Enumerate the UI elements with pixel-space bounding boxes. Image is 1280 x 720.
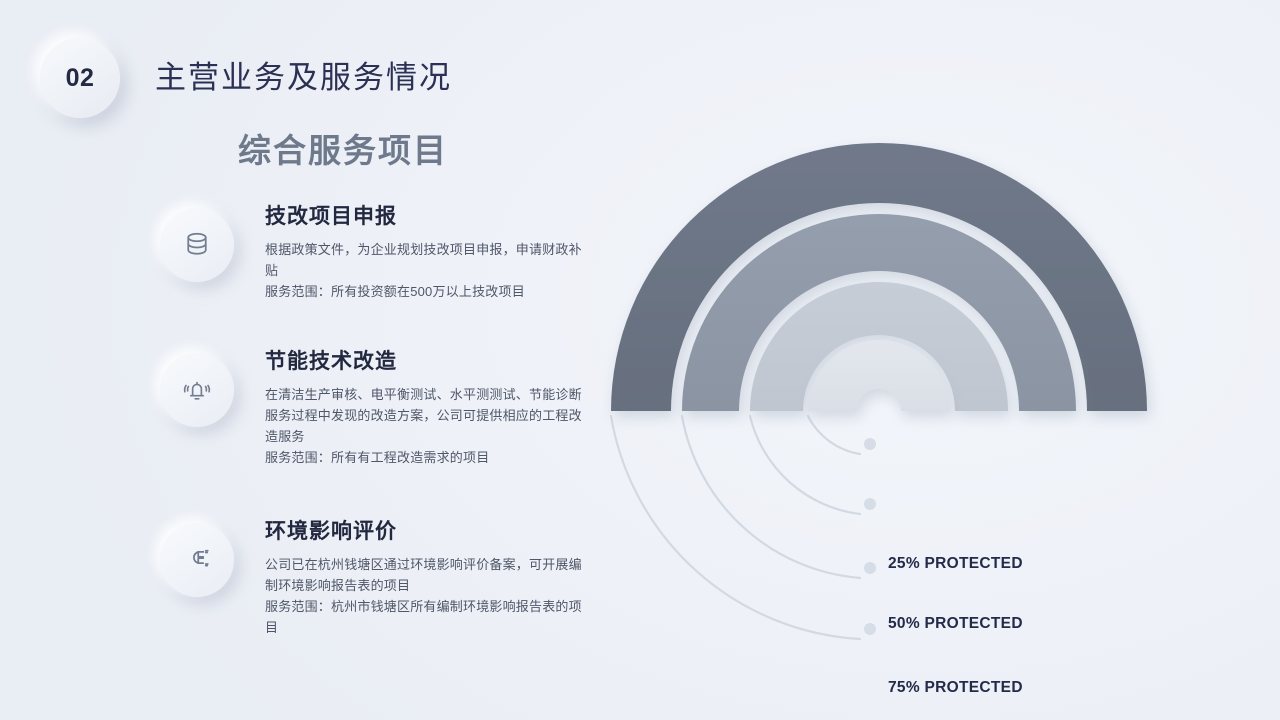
feature-scope-1: 服务范围：所有投资额在500万以上技改项目	[265, 281, 585, 302]
feature-description-3: 公司已在杭州钱塘区通过环境影响评价备案，可开展编制环境影响报告表的项目	[265, 554, 585, 596]
connector-dot-50	[864, 498, 876, 510]
connector-dot-75	[864, 562, 876, 574]
feature-title-2: 节能技术改造	[265, 345, 585, 375]
connector-lines	[611, 416, 860, 639]
magnet-icon	[160, 523, 234, 597]
connector-line-100	[611, 416, 860, 639]
slide-canvas: 02 主营业务及服务情况 综合服务项目 技改项目申报 根据政策文件，为企业规划技…	[0, 0, 1280, 720]
arc-chart-svg	[560, 120, 1260, 680]
legend-label-75: 75% PROTECTED	[888, 679, 1023, 697]
feature-body-1: 技改项目申报 根据政策文件，为企业规划技改项目申报，申请财政补贴 服务范围：所有…	[265, 200, 585, 302]
feature-body-3: 环境影响评价 公司已在杭州钱塘区通过环境影响评价备案，可开展编制环境影响报告表的…	[265, 515, 585, 638]
section-number-badge: 02	[40, 38, 120, 118]
legend-label-50: 50% PROTECTED	[888, 615, 1023, 633]
legend-label-25: 25% PROTECTED	[888, 555, 1023, 573]
connector-dots	[864, 438, 876, 635]
badge-number-label: 02	[40, 38, 120, 118]
feature-title-1: 技改项目申报	[265, 200, 585, 230]
connector-line-25	[808, 416, 860, 454]
connector-dot-100	[864, 623, 876, 635]
bell-icon	[160, 353, 234, 427]
protection-arc-chart: 25% PROTECTED 50% PROTECTED 75% PROTECTE…	[560, 120, 1260, 680]
feature-description-2: 在清洁生产审核、电平衡测试、水平测测试、节能诊断服务过程中发现的改造方案，公司可…	[265, 384, 585, 447]
feature-description-1: 根据政策文件，为企业规划技改项目申报，申请财政补贴	[265, 239, 585, 281]
database-icon	[160, 208, 234, 282]
connector-line-75	[682, 416, 860, 578]
page-title: 主营业务及服务情况	[155, 52, 452, 97]
feature-scope-2: 服务范围：所有有工程改造需求的项目	[265, 447, 585, 468]
feature-title-3: 环境影响评价	[265, 515, 585, 545]
section-heading: 综合服务项目	[238, 124, 448, 172]
connector-line-50	[750, 416, 860, 514]
connector-dot-25	[864, 438, 876, 450]
feature-scope-3: 服务范围：杭州市钱塘区所有编制环境影响报告表的项目	[265, 596, 585, 638]
feature-body-2: 节能技术改造 在清洁生产审核、电平衡测试、水平测测试、节能诊断服务过程中发现的改…	[265, 345, 585, 468]
